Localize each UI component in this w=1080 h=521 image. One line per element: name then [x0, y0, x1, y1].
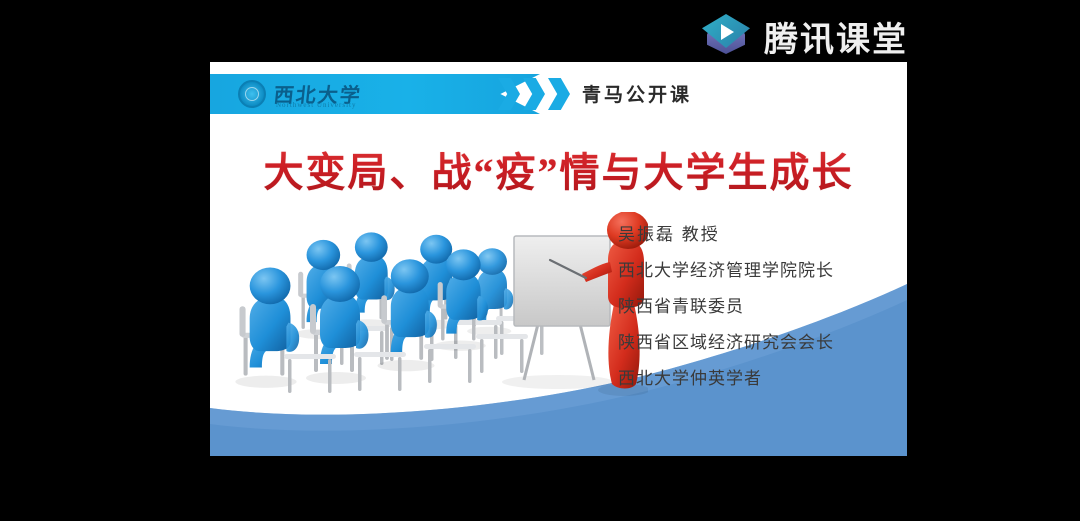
- chevron-right-icon: [523, 78, 545, 110]
- slide-title: 大变局、战“疫”情与大学生成长: [210, 140, 907, 198]
- tencent-classroom-play-logo-icon: [700, 10, 752, 62]
- whiteboard: [502, 236, 614, 389]
- credential-line: 陕西省青联委员: [618, 292, 834, 317]
- university-name-en: Northwest University: [276, 101, 356, 109]
- university-seal-icon: [238, 80, 266, 108]
- video-player-stage: 腾讯课堂 西北大学 Northwest University 青马公开课 大变局…: [0, 0, 1080, 521]
- credential-line: 陕西省区域经济研究会会长: [618, 328, 834, 353]
- play-triangle-icon: [721, 24, 734, 40]
- chevron-group: [498, 78, 570, 110]
- slide-header-ribbon: 西北大学 Northwest University 青马公开课: [210, 74, 907, 114]
- credential-line: 西北大学仲英学者: [618, 364, 834, 389]
- chevron-right-icon: [498, 78, 520, 110]
- credential-line: 吴振磊 教授: [618, 220, 834, 245]
- course-series-label: 青马公开课: [582, 80, 692, 107]
- credential-line: 西北大学经济管理学院院长: [618, 256, 834, 281]
- classroom-lecture-illustration: [228, 212, 648, 432]
- chevron-right-icon: [548, 78, 570, 110]
- speaker-credentials: 吴振磊 教授 西北大学经济管理学院院长 陕西省青联委员 陕西省区域经济研究会会长…: [618, 220, 834, 389]
- brand-name: 腾讯课堂: [764, 12, 908, 61]
- presentation-slide: 西北大学 Northwest University 青马公开课 大变局、战“疫”…: [210, 62, 907, 456]
- tencent-classroom-watermark: 腾讯课堂: [700, 10, 908, 62]
